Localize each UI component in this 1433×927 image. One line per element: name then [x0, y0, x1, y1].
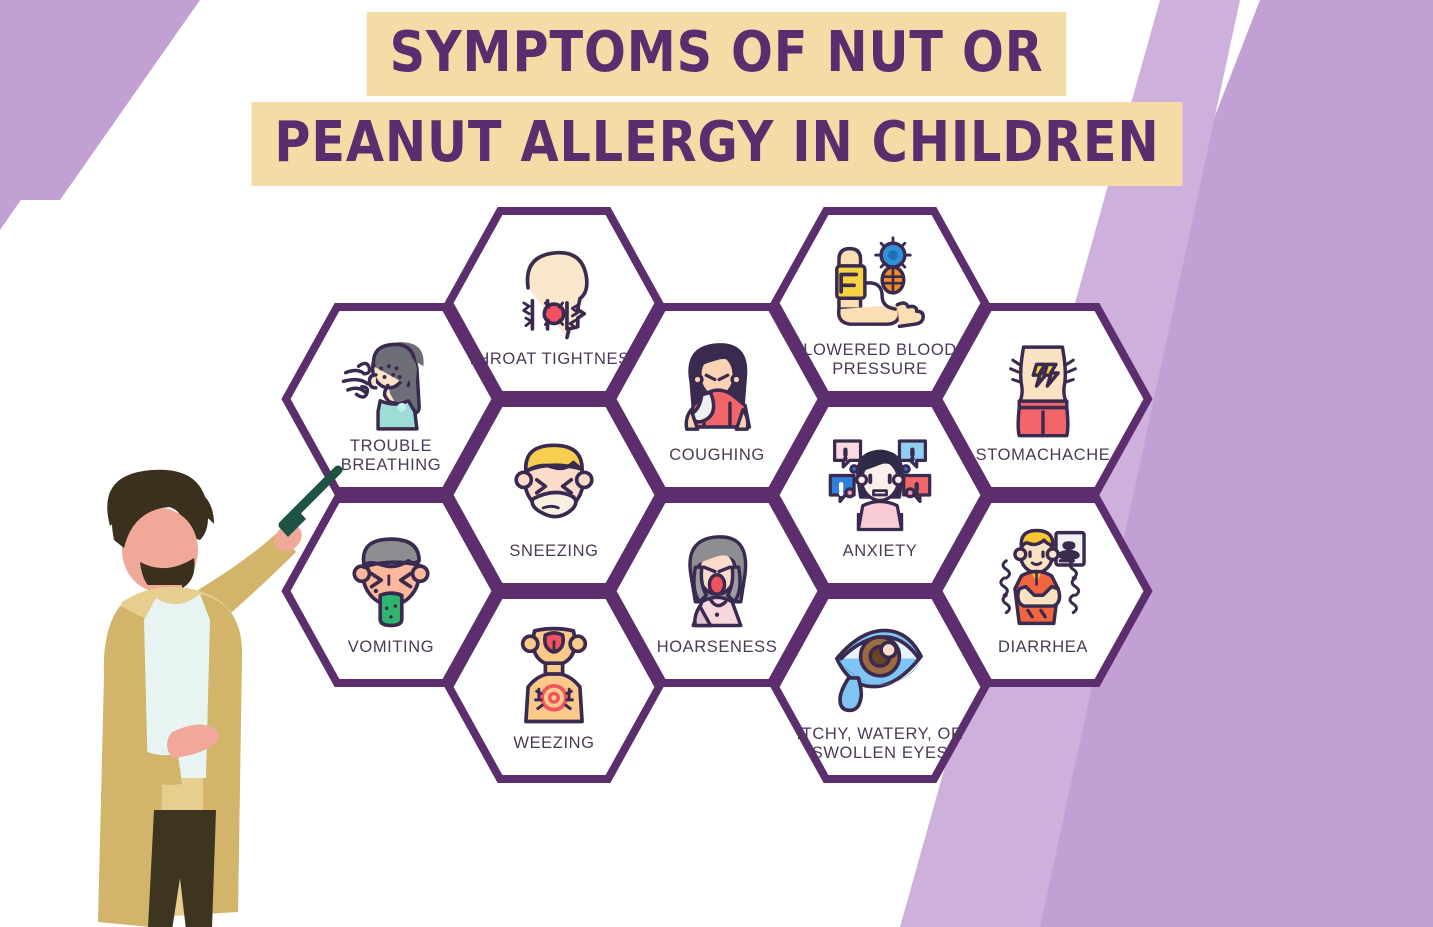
woman-hoarse-icon — [663, 524, 771, 632]
woman-coughing-icon — [663, 332, 771, 440]
anxious-child-icon — [826, 428, 934, 536]
hexagon-label-weezing: WEEZING — [513, 734, 594, 753]
page-title: SYMPTOMS OF NUT OR PEANUT ALLERGY IN CHI… — [0, 12, 1433, 186]
hexagon-label-coughing: COUGHING — [669, 446, 765, 465]
hexagon-label-anxiety: ANXIETY — [843, 542, 918, 561]
head-throat-icon — [500, 236, 608, 344]
man-vomiting-icon — [337, 524, 445, 632]
hexagon-label-sneezing: SNEEZING — [509, 542, 598, 561]
hexagon-label-itchy-watery-eyes: ITCHY, WATERY, OR SWOLLEN EYES — [788, 725, 973, 764]
boy-sneezing-icon — [500, 428, 608, 536]
hexagon-label-diarrhea: DIARRHEA — [998, 638, 1088, 657]
hexagon-itchy-watery-eyes[interactable]: ITCHY, WATERY, OR SWOLLEN EYES — [772, 592, 988, 782]
title-line-2: PEANUT ALLERGY IN CHILDREN — [251, 102, 1182, 186]
infographic-canvas: SYMPTOMS OF NUT OR PEANUT ALLERGY IN CHI… — [0, 0, 1433, 927]
chest-wheezing-icon — [500, 620, 608, 728]
hexagon-label-hoarseness: HOARSENESS — [657, 638, 778, 657]
hexagon-label-vomiting: VOMITING — [348, 638, 434, 657]
teary-eye-icon — [826, 611, 934, 719]
title-line-1: SYMPTOMS OF NUT OR — [367, 12, 1067, 96]
hexagon-weezing[interactable]: WEEZING — [446, 592, 662, 782]
diarrhea-icon — [989, 524, 1097, 632]
man-breathing-icon — [337, 323, 445, 431]
blood-pressure-icon — [826, 227, 934, 335]
doctor-illustration — [48, 430, 348, 927]
stomach-pain-icon — [989, 332, 1097, 440]
hexagon-label-stomachache: STOMACHACHE — [976, 446, 1111, 465]
